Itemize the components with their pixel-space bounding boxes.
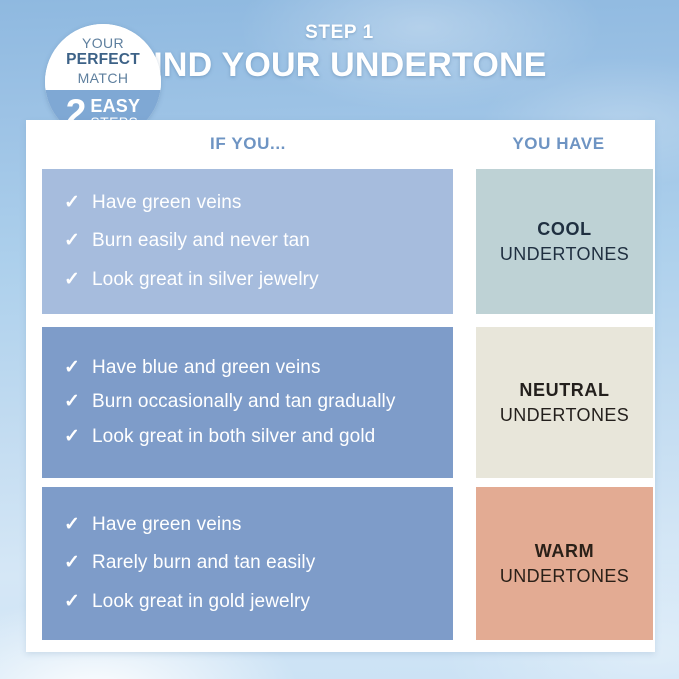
criteria-text: Look great in gold jewelry — [92, 590, 310, 614]
criteria-text: Rarely burn and tan easily — [92, 551, 315, 575]
criteria-text: Look great in both silver and gold — [92, 425, 375, 449]
criteria-text: Have green veins — [92, 513, 241, 537]
criteria-text: Burn occasionally and tan gradually — [92, 390, 395, 414]
undertone-row: ✓ Have green veins ✓ Rarely burn and tan… — [42, 487, 653, 640]
criteria-item: ✓ Have green veins — [64, 191, 441, 215]
check-icon: ✓ — [64, 268, 92, 292]
check-icon: ✓ — [64, 551, 92, 575]
column-header-you-have: YOU HAVE — [470, 134, 647, 154]
check-icon: ✓ — [64, 191, 92, 215]
criteria-item: ✓ Look great in gold jewelry — [64, 590, 441, 614]
criteria-item: ✓ Burn easily and never tan — [64, 229, 441, 253]
criteria-panel: ✓ Have blue and green veins ✓ Burn occas… — [42, 327, 453, 478]
criteria-item: ✓ Look great in silver jewelry — [64, 268, 441, 292]
criteria-item: ✓ Have blue and green veins — [64, 356, 441, 380]
badge-line-1: YOUR — [82, 35, 124, 52]
criteria-item: ✓ Look great in both silver and gold — [64, 425, 441, 449]
swatch-name: NEUTRAL — [519, 378, 609, 402]
check-icon: ✓ — [64, 590, 92, 614]
criteria-item: ✓ Burn occasionally and tan gradually — [64, 390, 441, 414]
criteria-text: Burn easily and never tan — [92, 229, 310, 253]
check-icon: ✓ — [64, 425, 92, 449]
criteria-text: Look great in silver jewelry — [92, 268, 319, 292]
undertone-row: ✓ Have green veins ✓ Burn easily and nev… — [42, 169, 653, 314]
criteria-text: Have green veins — [92, 191, 241, 215]
check-icon: ✓ — [64, 229, 92, 253]
swatch-name: WARM — [535, 539, 594, 563]
swatch-undertones-label: UNDERTONES — [500, 564, 629, 588]
criteria-item: ✓ Rarely burn and tan easily — [64, 551, 441, 575]
criteria-text: Have blue and green veins — [92, 356, 321, 380]
badge-line-2: PERFECT — [66, 51, 140, 69]
undertone-row: ✓ Have blue and green veins ✓ Burn occas… — [42, 327, 653, 478]
check-icon: ✓ — [64, 513, 92, 537]
criteria-panel: ✓ Have green veins ✓ Rarely burn and tan… — [42, 487, 453, 640]
undertone-swatch-cool: COOL UNDERTONES — [476, 169, 653, 314]
badge-word-easy: EASY — [90, 97, 140, 115]
column-headers: IF YOU... YOU HAVE — [26, 134, 655, 164]
swatch-undertones-label: UNDERTONES — [500, 242, 629, 266]
undertone-swatch-neutral: NEUTRAL UNDERTONES — [476, 327, 653, 478]
undertone-swatch-warm: WARM UNDERTONES — [476, 487, 653, 640]
column-header-if-you: IF YOU... — [42, 134, 454, 154]
swatch-name: COOL — [537, 217, 591, 241]
infographic-canvas: STEP 1 FIND YOUR UNDERTONE YOUR PERFECT … — [0, 0, 679, 679]
badge-line-3: MATCH — [78, 70, 129, 87]
swatch-undertones-label: UNDERTONES — [500, 403, 629, 427]
check-icon: ✓ — [64, 390, 92, 414]
criteria-panel: ✓ Have green veins ✓ Burn easily and nev… — [42, 169, 453, 314]
criteria-item: ✓ Have green veins — [64, 513, 441, 537]
badge-top-half: YOUR PERFECT MATCH — [45, 24, 161, 90]
check-icon: ✓ — [64, 356, 92, 380]
